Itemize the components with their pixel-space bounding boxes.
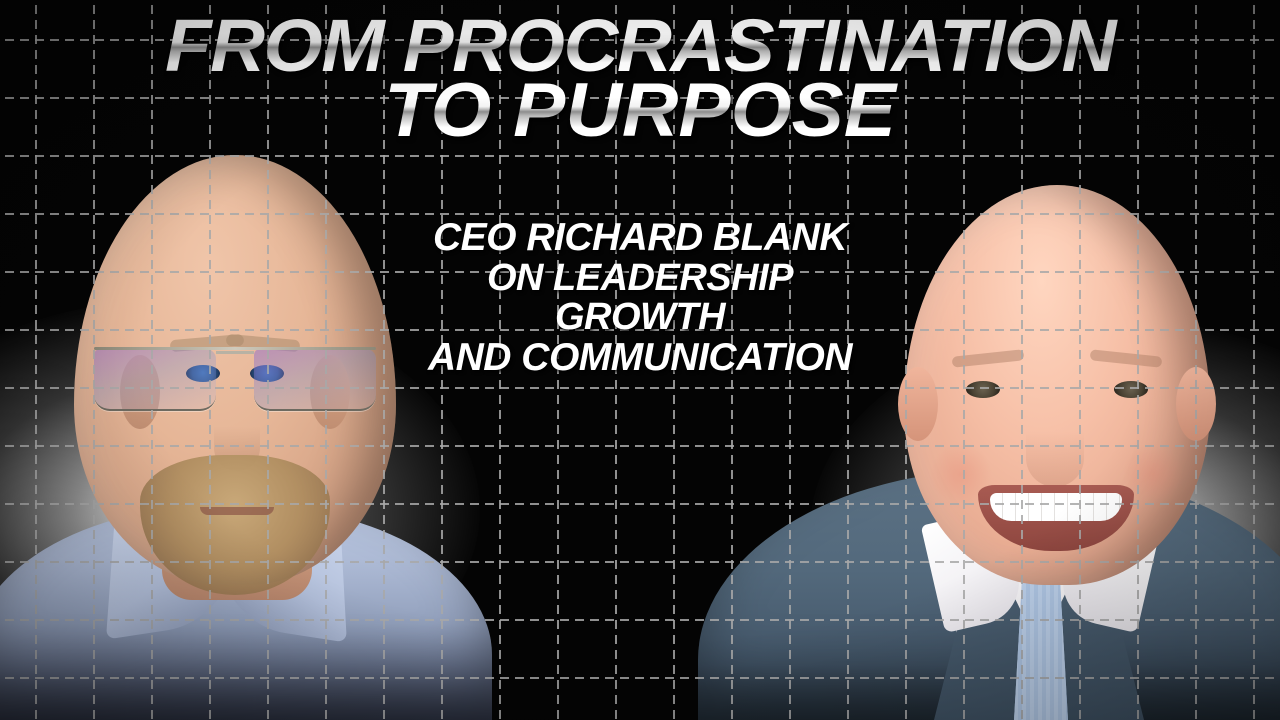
right-person-portrait xyxy=(756,175,1276,720)
right-person-smile xyxy=(978,485,1134,551)
right-person-head xyxy=(904,185,1210,585)
right-person-eye-left xyxy=(966,381,1000,398)
right-person-ear-right xyxy=(1176,367,1216,441)
right-person-eyebrow-right xyxy=(1090,349,1163,367)
glasses-bridge xyxy=(216,351,254,354)
glasses-lens-left xyxy=(94,349,216,411)
youtube-thumbnail: FROM PROCRASTINATION TO PURPOSE CEO RICH… xyxy=(0,0,1280,720)
left-person-portrait xyxy=(12,150,452,720)
glasses-lens-right xyxy=(254,349,376,411)
right-person-eyebrow-left xyxy=(952,349,1025,367)
right-person-eye-right xyxy=(1114,381,1148,398)
right-person-teeth xyxy=(990,493,1121,521)
left-person-head xyxy=(74,155,396,585)
right-person-ear-left xyxy=(898,367,938,441)
left-person-mouth xyxy=(200,507,274,515)
right-person-nose xyxy=(1026,413,1084,487)
glasses-top-bar xyxy=(94,347,376,350)
left-person-glasses xyxy=(94,343,376,419)
